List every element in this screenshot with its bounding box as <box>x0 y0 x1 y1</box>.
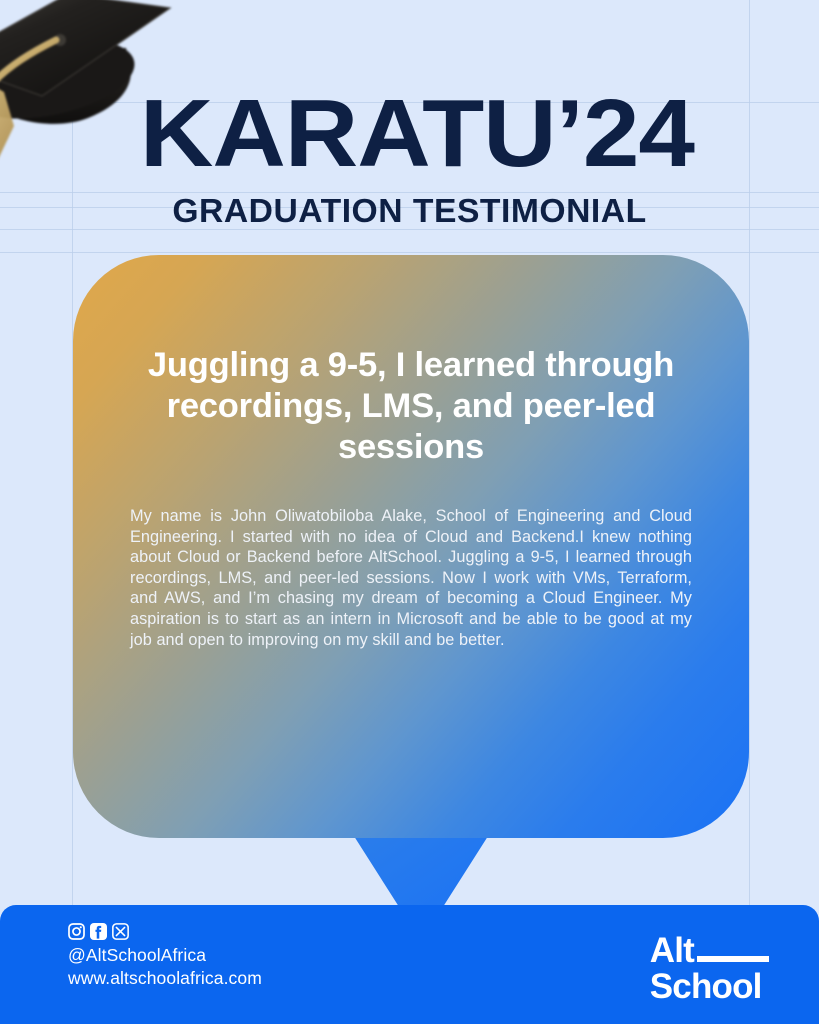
x-icon[interactable] <box>112 923 129 940</box>
footer-contact: @AltSchoolAfrica www.altschoolafrica.com <box>68 923 262 990</box>
logo-text-alt: Alt <box>650 933 694 969</box>
facebook-icon[interactable] <box>90 923 107 940</box>
testimonial-body: My name is John Oliwatobiloba Alake, Sch… <box>128 506 694 650</box>
altschool-logo: Alt School <box>650 933 769 1005</box>
logo-text-school: School <box>650 969 769 1005</box>
website-url[interactable]: www.altschoolafrica.com <box>68 967 262 990</box>
social-links <box>68 923 262 940</box>
bubble-content: Juggling a 9-5, I learned through record… <box>73 255 749 838</box>
testimonial-bubble: Juggling a 9-5, I learned through record… <box>0 0 819 1024</box>
testimonial-headline: Juggling a 9-5, I learned through record… <box>128 345 694 468</box>
instagram-icon[interactable] <box>68 923 85 940</box>
footer-bar: @AltSchoolAfrica www.altschoolafrica.com… <box>0 905 819 1024</box>
social-handle[interactable]: @AltSchoolAfrica <box>68 944 262 967</box>
logo-bar <box>697 956 769 962</box>
logo-line-1: Alt <box>650 933 769 969</box>
